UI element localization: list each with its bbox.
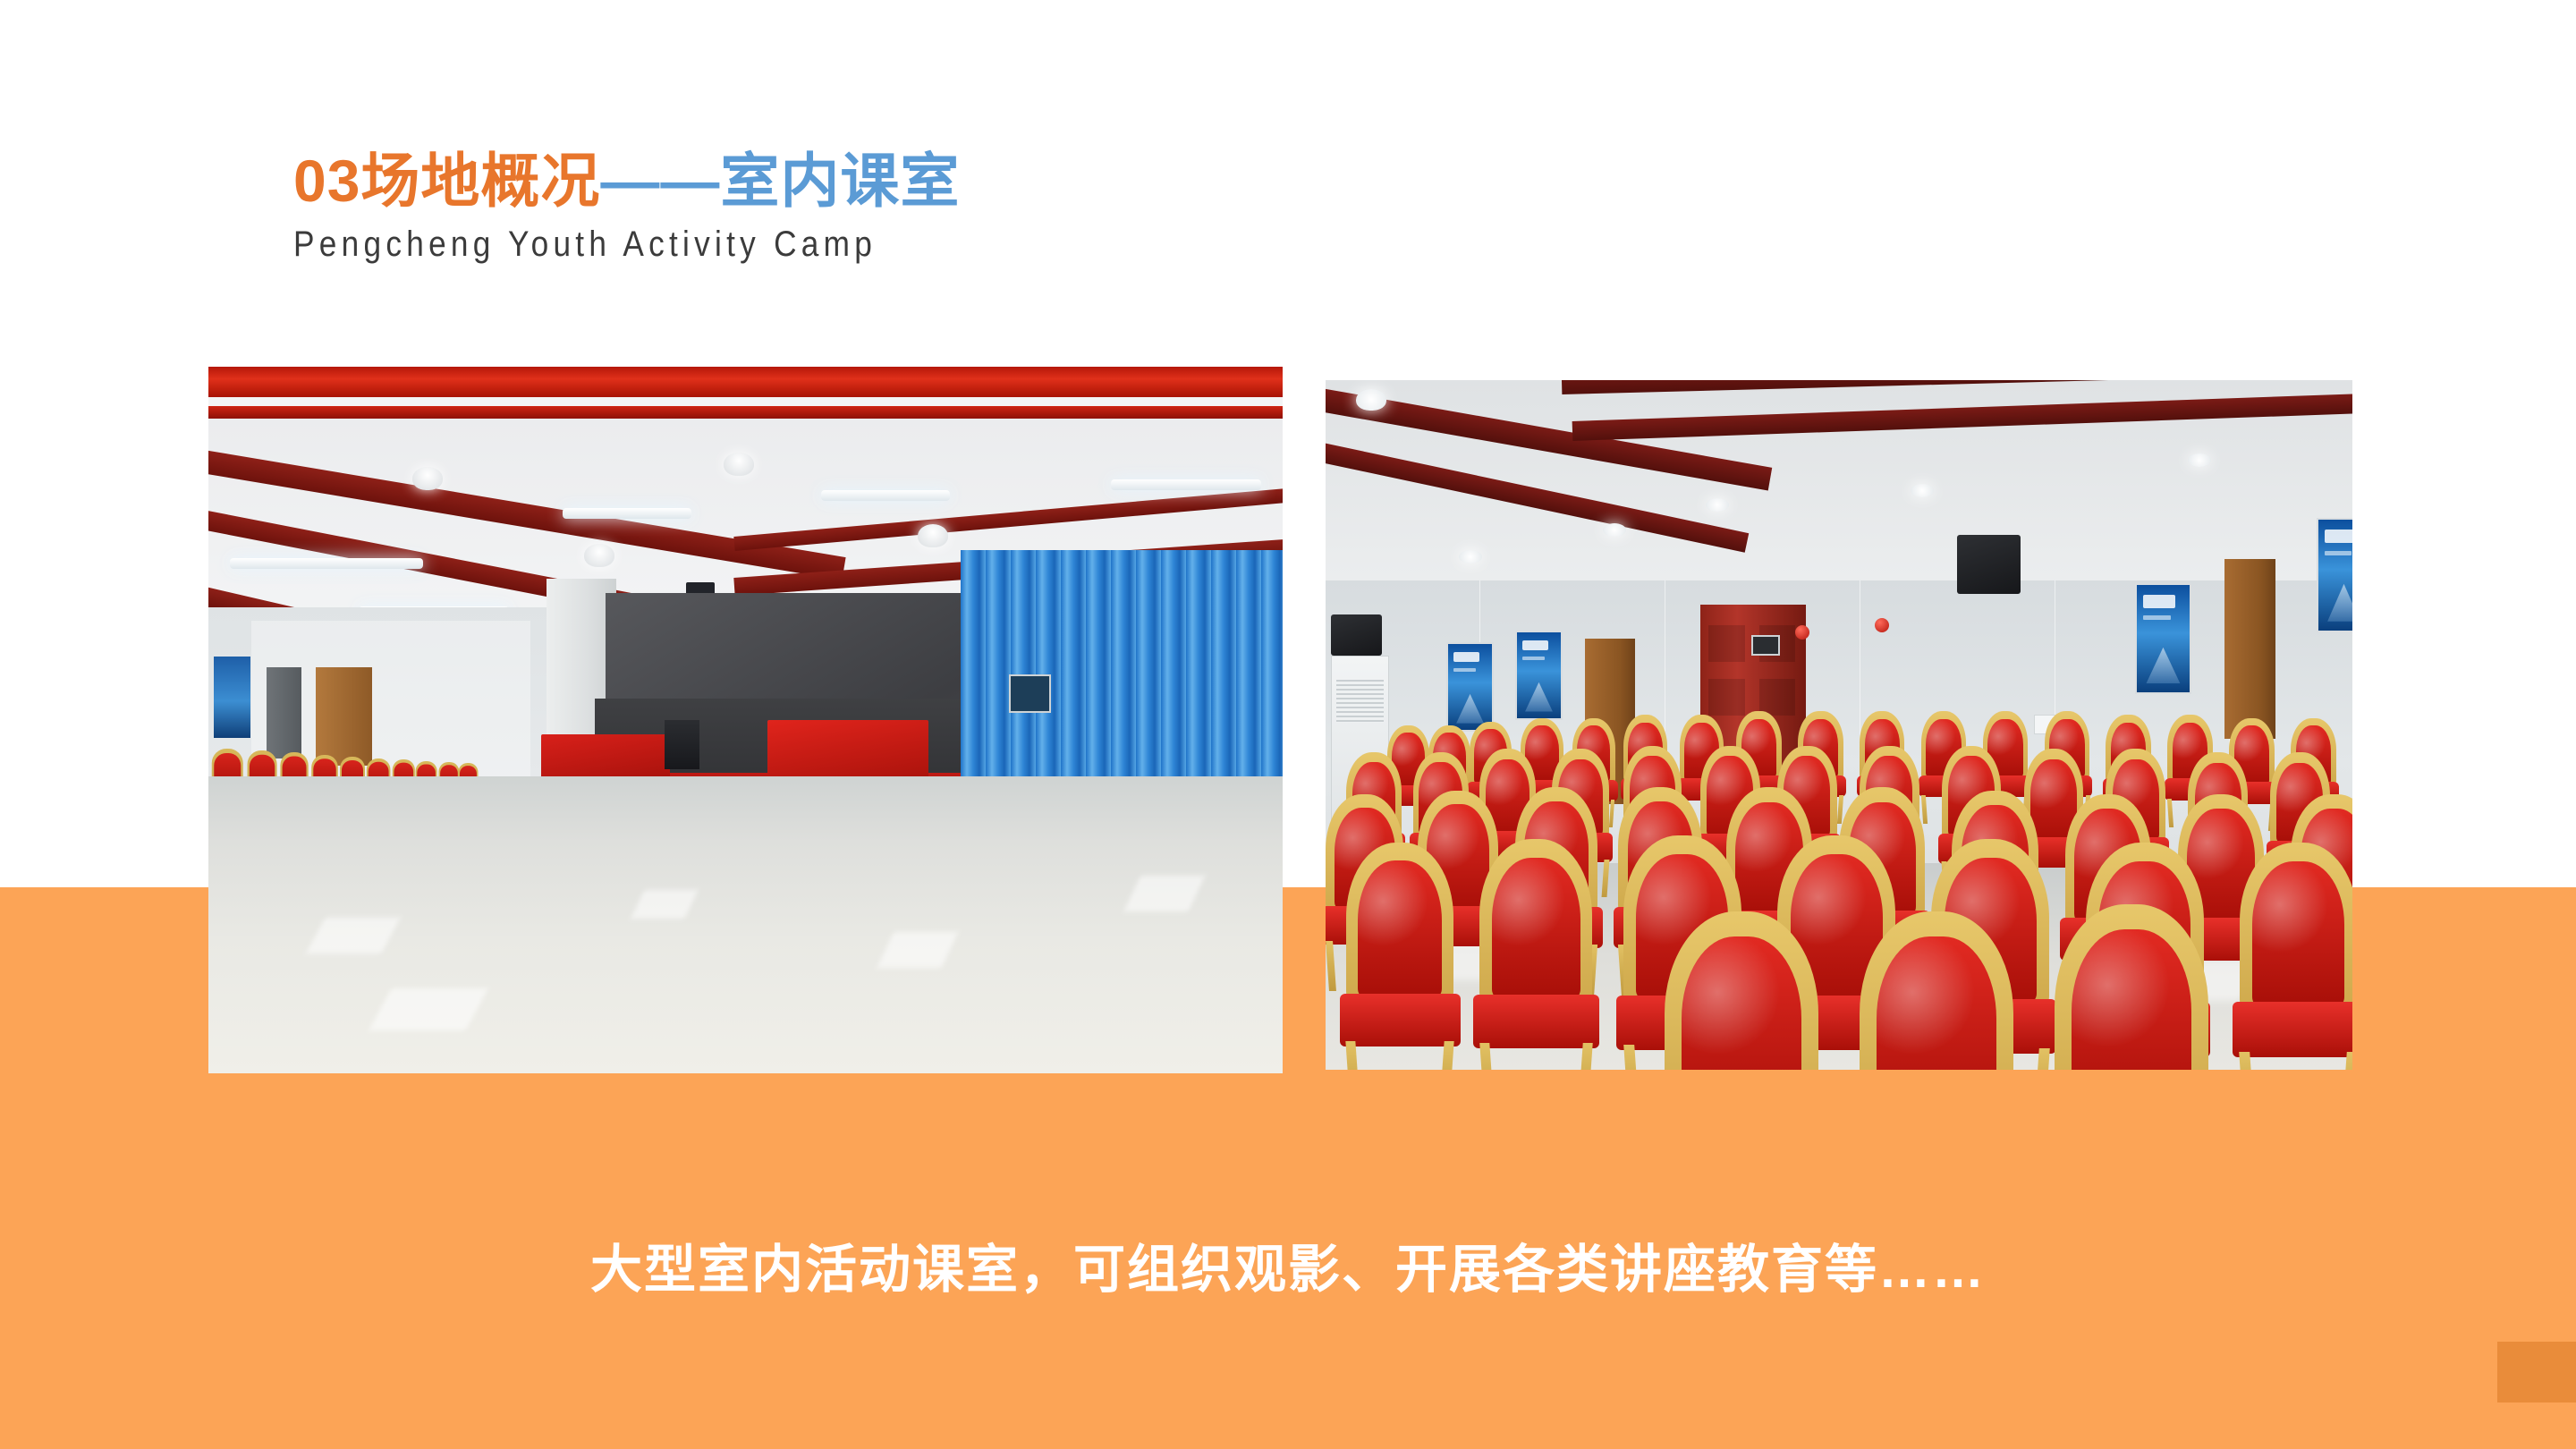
red-chair bbox=[2240, 843, 2352, 1070]
wooden-door bbox=[2224, 559, 2275, 738]
ceiling-dome-light bbox=[584, 544, 614, 567]
title-dash: —— bbox=[600, 148, 720, 214]
wall-monitor bbox=[1009, 674, 1051, 714]
ceiling-tube-light bbox=[563, 508, 691, 519]
ceiling-red-valance bbox=[208, 367, 1283, 397]
ceiling-tube-light bbox=[1111, 479, 1261, 490]
title-venue: 室内课室 bbox=[720, 148, 960, 214]
photo-indoor-hall-with-stage bbox=[208, 367, 1283, 1073]
red-draped-table bbox=[767, 720, 928, 784]
side-door bbox=[267, 667, 302, 759]
wall-poster bbox=[214, 657, 250, 738]
exit-sign bbox=[1751, 635, 1780, 656]
recessed-downlight bbox=[1706, 498, 1729, 512]
wall-poster-surpass bbox=[1515, 631, 1562, 720]
wall-poster-small bbox=[1446, 642, 1493, 732]
ceiling-dome-light bbox=[412, 467, 443, 490]
red-chair bbox=[1346, 843, 1454, 1070]
ceiling-red-strip bbox=[208, 406, 1283, 419]
wall-poster-execute bbox=[2135, 583, 2192, 694]
red-chair-front bbox=[2055, 904, 2208, 1070]
title-block: 03场地概况——室内课室 Pengcheng Youth Activity Ca… bbox=[293, 150, 960, 265]
page-subtitle: Pengcheng Youth Activity Camp bbox=[293, 225, 880, 265]
floor-speaker bbox=[665, 720, 699, 769]
fire-alarm-light bbox=[1795, 625, 1809, 640]
title-number-topic: 03场地概况 bbox=[293, 148, 600, 214]
red-chair bbox=[1479, 839, 1592, 1070]
wooden-door bbox=[316, 667, 371, 767]
ceiling-white-strip bbox=[208, 397, 1283, 406]
wall-poster-attitude bbox=[2317, 518, 2352, 631]
recessed-downlight bbox=[1603, 523, 1626, 537]
orange-corner-accent bbox=[2497, 1342, 2576, 1402]
ceiling-dome-light bbox=[918, 524, 948, 547]
slide-root: 03场地概况——室内课室 Pengcheng Youth Activity Ca… bbox=[0, 0, 2576, 1449]
wall-speaker bbox=[1957, 535, 2021, 594]
ceiling-tube-light bbox=[821, 490, 950, 501]
page-title: 03场地概况——室内课室 bbox=[293, 150, 960, 212]
ceiling-dome-light bbox=[724, 453, 754, 476]
wall-speaker bbox=[1331, 614, 1382, 656]
slide-caption: 大型室内活动课室，可组织观影、开展各类讲座教育等…… bbox=[0, 1227, 2576, 1302]
ceiling-tube-light bbox=[230, 558, 423, 569]
photo-indoor-classroom-seating bbox=[1326, 380, 2352, 1070]
red-chair-front bbox=[1860, 911, 2013, 1070]
red-chair-front bbox=[1665, 911, 1818, 1070]
ceiling-dome-light bbox=[1356, 389, 1386, 411]
